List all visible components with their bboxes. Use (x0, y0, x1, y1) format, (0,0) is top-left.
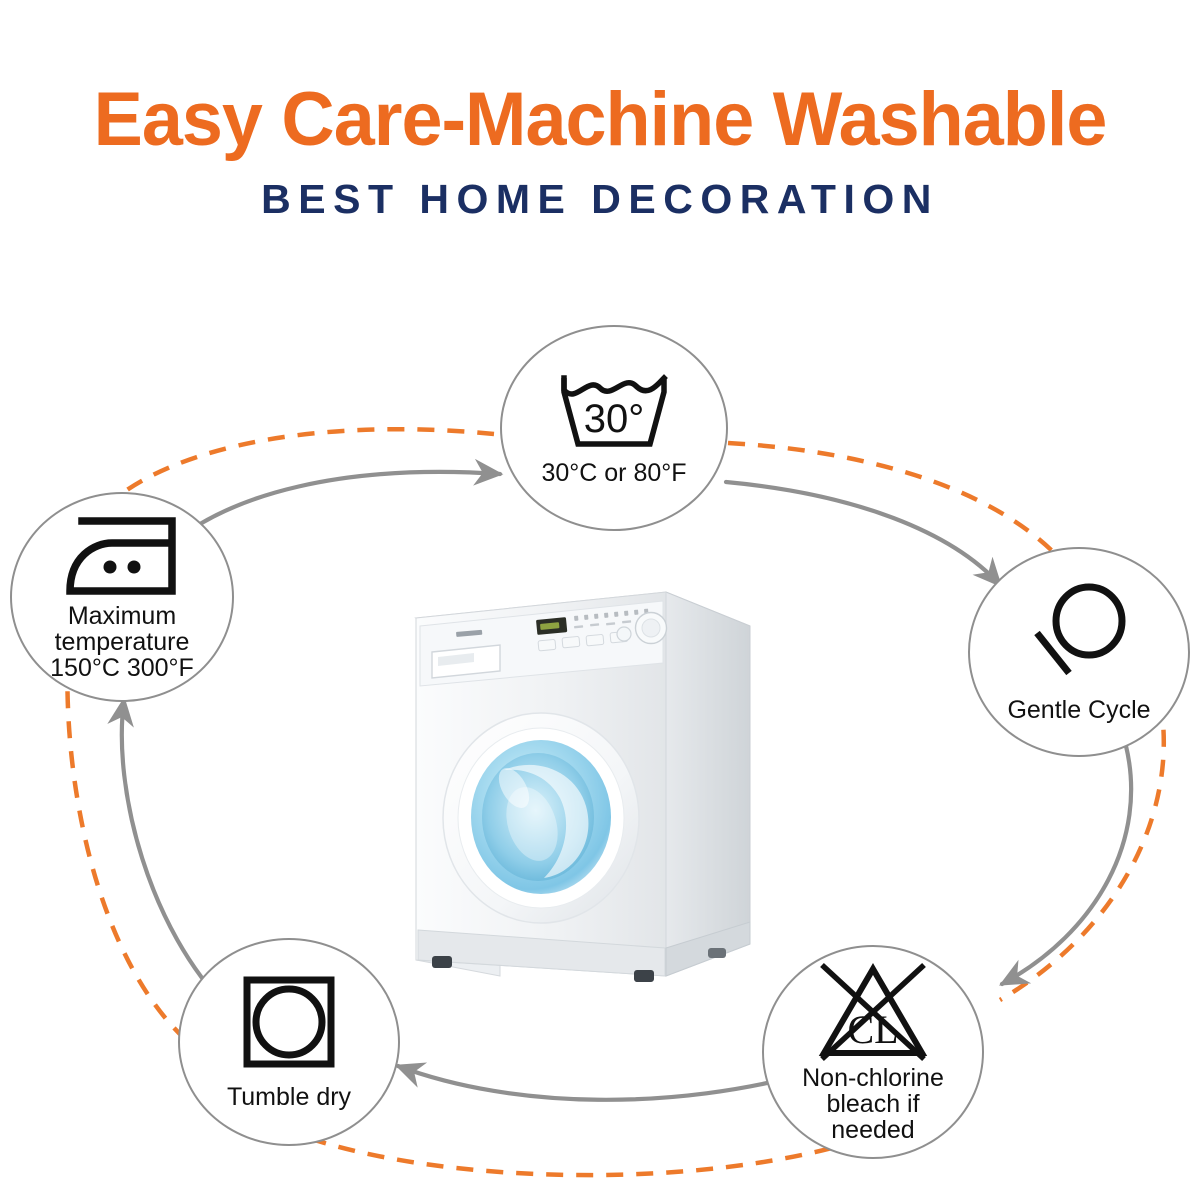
node-tumble-dry-label: Tumble dry (227, 1084, 351, 1111)
node-iron-max-temperature-label: Maximum temperature 150°C 300°F (50, 603, 194, 681)
washer-foot-right (634, 970, 654, 982)
node-non-chlorine-bleach[interactable]: CL Non-chlorine bleach if needed (762, 945, 984, 1159)
arrow-tumble-to-iron (122, 700, 228, 1008)
gentle-cycle-icon (1023, 581, 1135, 683)
node-gentle-cycle[interactable]: Gentle Cycle (968, 547, 1190, 757)
arrow-bleach-to-tumble (398, 1066, 812, 1100)
no-chlorine-bleach-triangle-icon: CL (814, 961, 932, 1063)
node-iron-max-temperature[interactable]: Maximum temperature 150°C 300°F (10, 492, 234, 702)
wash-tub-30-icon: 30° (554, 370, 674, 452)
tumble-dry-icon (241, 974, 337, 1070)
washer-foot-left (432, 956, 452, 968)
washer-power-button[interactable] (617, 627, 631, 641)
washer-foot-rear (708, 948, 726, 958)
node-wash-temperature-label: 30°C or 80°F (541, 460, 686, 487)
arrow-wash-to-gentle (726, 482, 1000, 585)
node-non-chlorine-bleach-label: Non-chlorine bleach if needed (802, 1065, 944, 1143)
iron-two-dots-icon (60, 513, 184, 599)
washer-program-dial-inner (642, 619, 660, 637)
wash-tub-temperature-text: 30° (584, 397, 645, 441)
node-wash-temperature[interactable]: 30° 30°C or 80°F (500, 325, 728, 531)
node-tumble-dry[interactable]: Tumble dry (178, 938, 400, 1146)
washer-side-panel (666, 592, 750, 976)
washing-machine-illustration (408, 556, 758, 1006)
infographic-canvas: Easy Care-Machine Washable BEST HOME DEC… (0, 0, 1200, 1200)
node-gentle-cycle-label: Gentle Cycle (1007, 697, 1150, 724)
